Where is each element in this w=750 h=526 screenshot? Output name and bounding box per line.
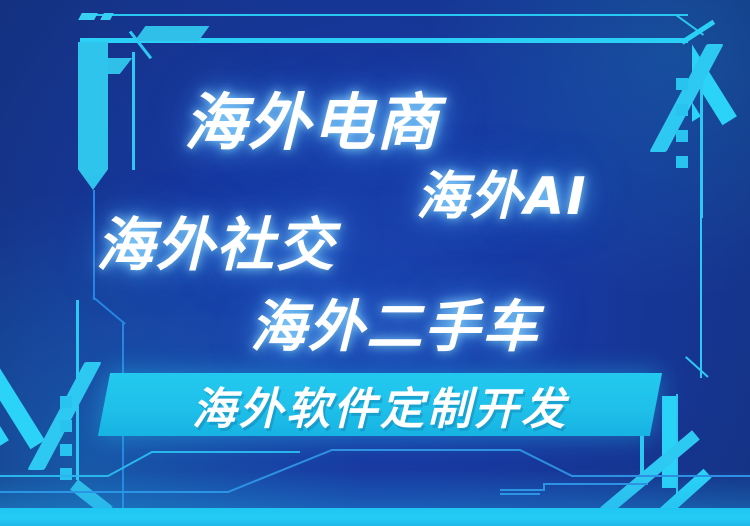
corner-elbow-vertical — [132, 52, 135, 170]
cta-banner-label: 海外软件定制开发 — [104, 373, 656, 436]
bottom-rule — [0, 508, 750, 526]
corner-tick-icon — [78, 13, 98, 20]
right-frame-line-upper — [700, 58, 703, 218]
corner-dot-icon — [60, 420, 72, 432]
bottom-glow — [0, 470, 750, 510]
top-thin-rule — [88, 14, 688, 16]
left-trace-diagonal — [92, 296, 125, 325]
left-trace-upper — [93, 190, 95, 300]
right-frame-line-mid — [700, 216, 702, 378]
headline-overseas-ecommerce: 海外电商 — [184, 72, 440, 162]
corner-tick-icon — [100, 13, 114, 20]
corner-slash-icon — [135, 26, 210, 41]
corner-dot-icon — [676, 130, 688, 142]
cta-banner[interactable]: 海外软件定制开发 — [98, 373, 662, 436]
promo-banner: 海外电商 海外AI 海外社交 海外二手车 海外软件定制开发 — [0, 0, 750, 526]
corner-dot-icon — [60, 396, 72, 408]
headline-overseas-social: 海外社交 — [96, 198, 336, 282]
headline-overseas-used-car: 海外二手车 — [250, 282, 540, 363]
corner-bar-top-left — [78, 42, 108, 190]
corner-dot-icon — [676, 104, 688, 116]
right-frame-line-jog — [685, 356, 709, 378]
corner-dot-icon — [676, 156, 688, 168]
corner-dot-icon — [676, 78, 688, 90]
headline-overseas-ai: 海外AI — [416, 154, 588, 229]
